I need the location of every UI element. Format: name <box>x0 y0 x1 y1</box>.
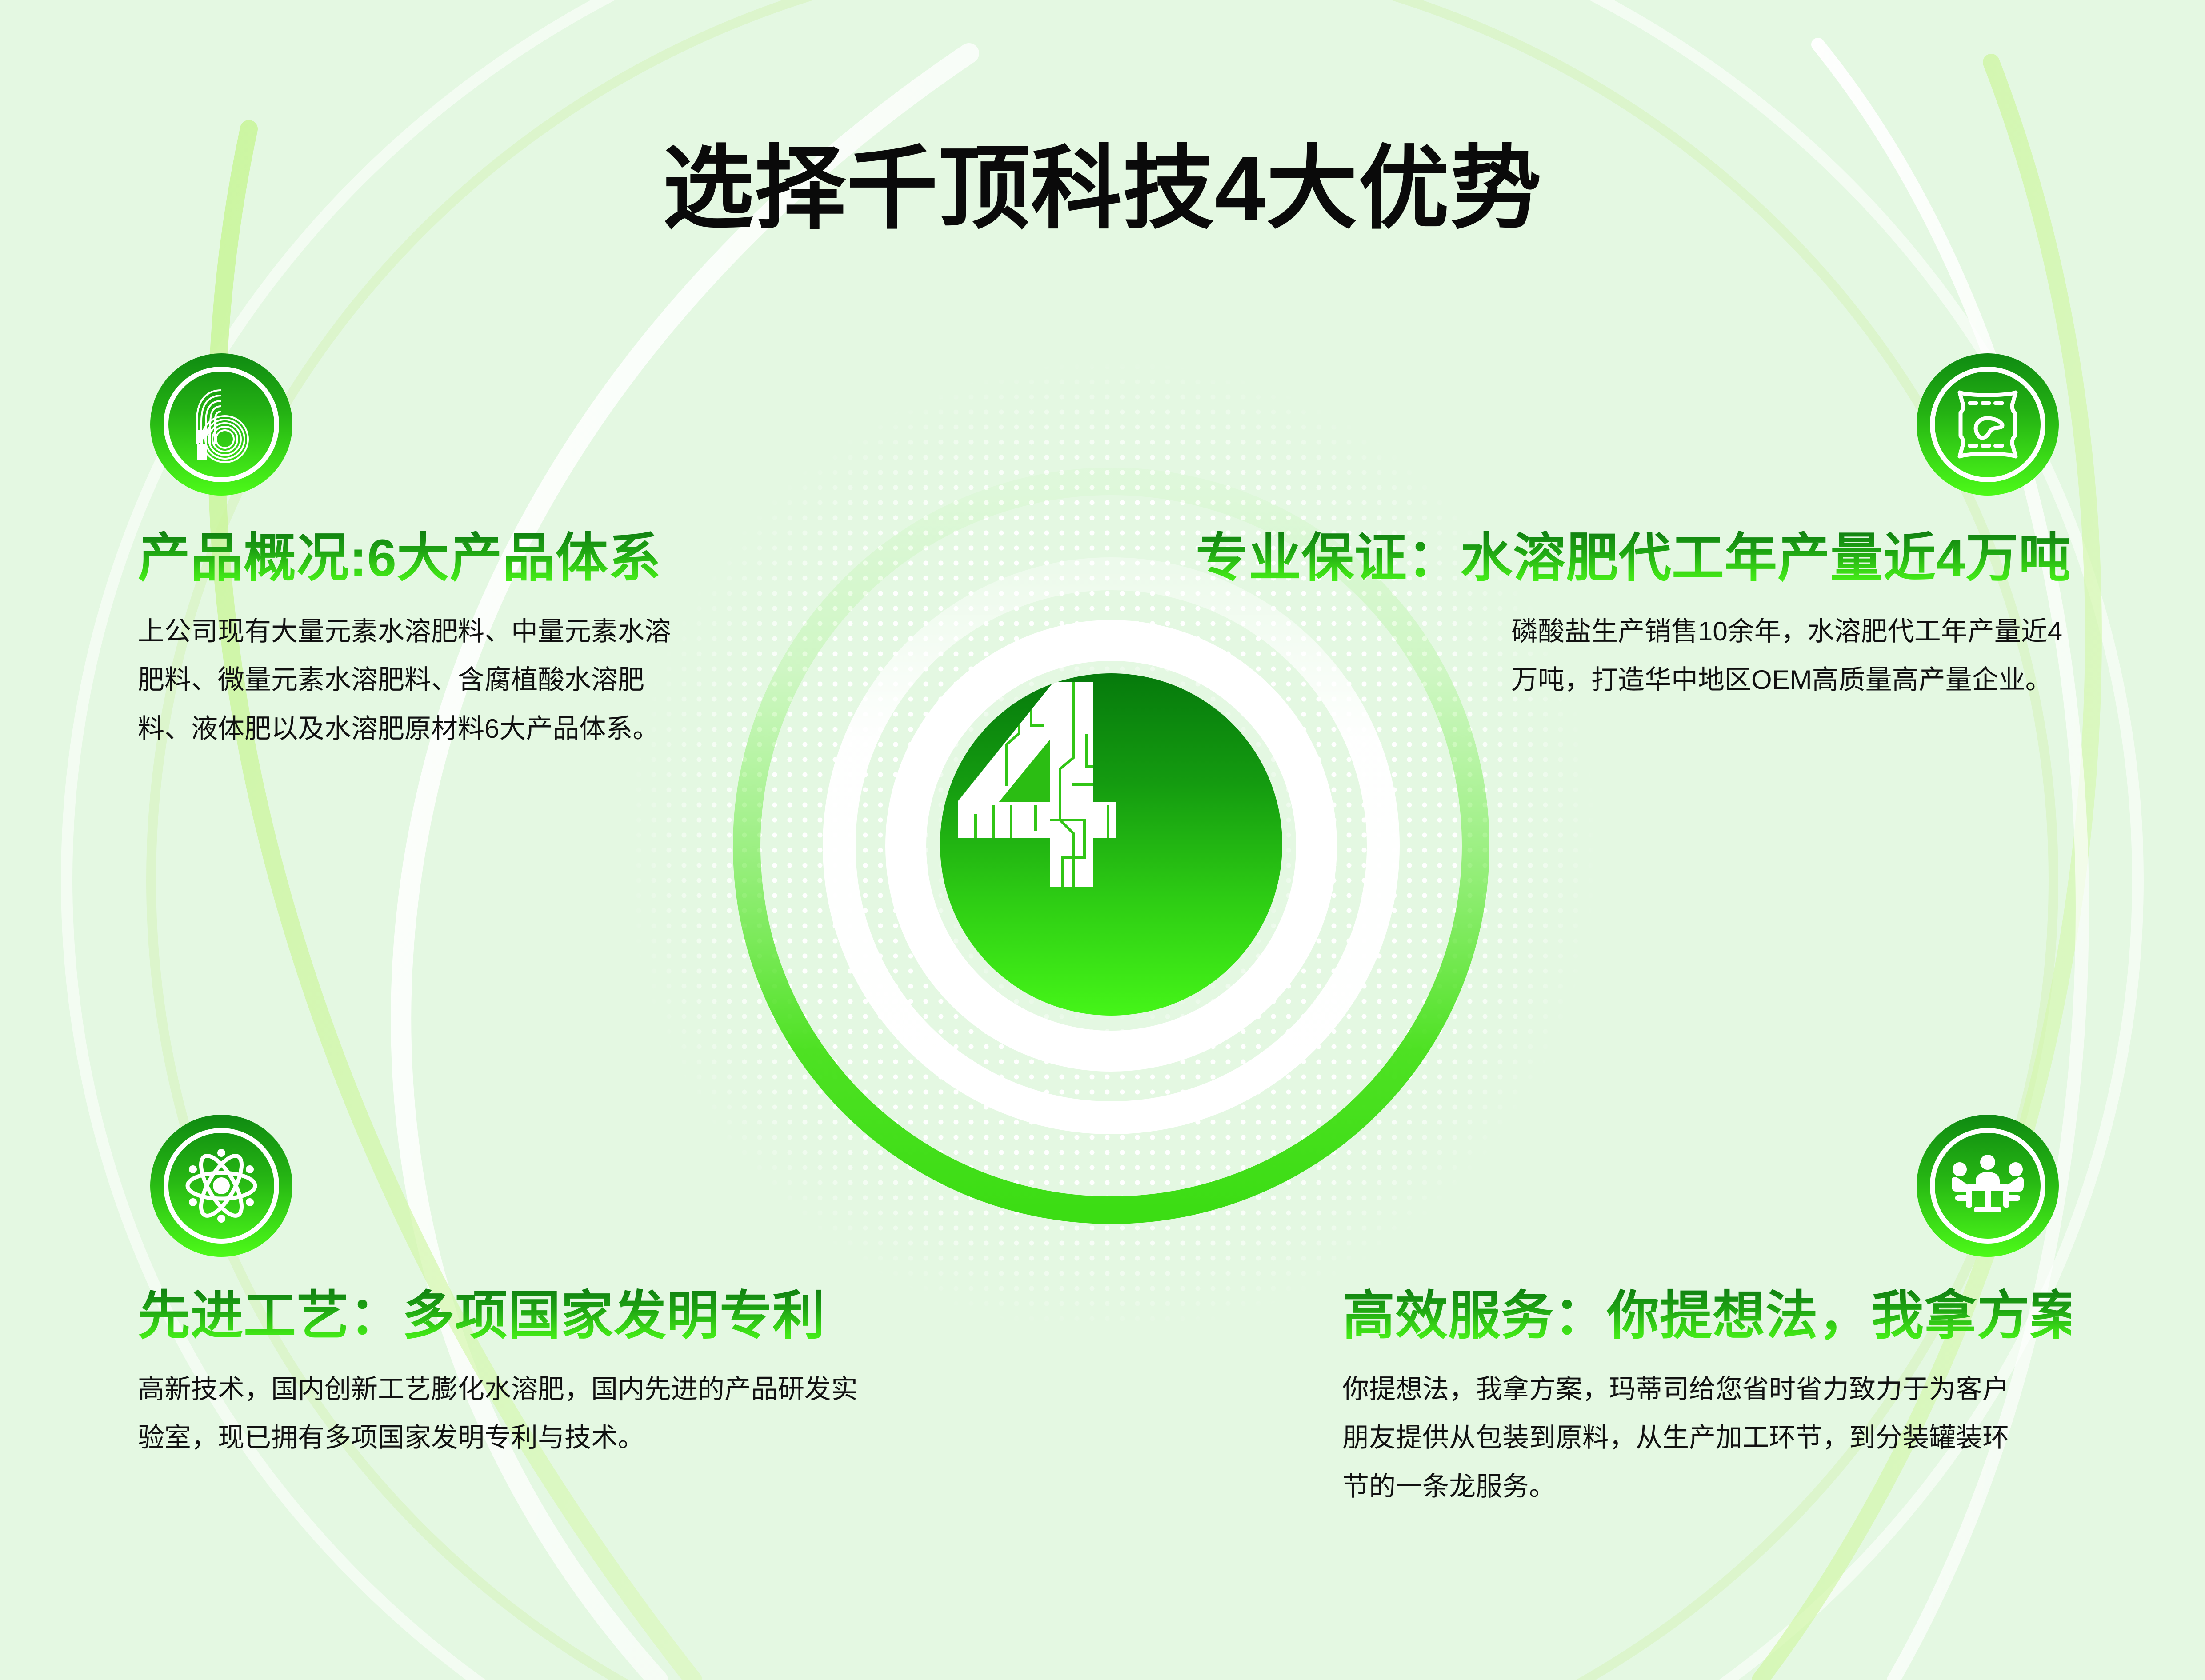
quadrant-heading: 产品概况:6大产品体系 <box>138 529 689 588</box>
badge-professional-guarantee[interactable] <box>1917 353 2059 496</box>
center-disc <box>940 673 1282 1016</box>
number-six-spiral-icon <box>150 353 292 496</box>
badge-advanced-technology[interactable] <box>150 1115 292 1257</box>
badge-product-overview[interactable] <box>150 353 292 496</box>
quadrant-advanced-technology: 先进工艺：多项国家发明专利 高新技术，国内创新工艺膨化水溶肥，国内先进的产品研发… <box>138 1287 893 1462</box>
quadrant-heading: 先进工艺：多项国家发明专利 <box>138 1287 893 1345</box>
quadrant-body: 你提想法，我拿方案，玛蒂司给您省时省力致力于为客户朋友提供从包装到原料，从生产加… <box>1342 1365 2022 1511</box>
fertilizer-bag-icon <box>1917 353 2059 496</box>
atom-icon <box>150 1115 292 1257</box>
badge-efficient-service[interactable] <box>1917 1115 2059 1257</box>
page-title: 选择千顶科技4大优势 <box>0 143 2205 234</box>
quadrant-body: 高新技术，国内创新工艺膨化水溶肥，国内先进的产品研发实验室，现已拥有多项国家发明… <box>138 1365 871 1462</box>
center-number-four-icon <box>940 673 1282 1016</box>
quadrant-efficient-service: 高效服务：你提想法，我拿方案 你提想法，我拿方案，玛蒂司给您省时省力致力于为客户… <box>1342 1287 2071 1511</box>
poster-canvas: 选择千顶科技4大优势 <box>0 0 2205 1680</box>
quadrant-professional-guarantee: 专业保证：水溶肥代工年产量近4万吨 磷酸盐生产销售10余年，水溶肥代工年产量近4… <box>1196 529 2069 704</box>
quadrant-heading: 高效服务：你提想法，我拿方案 <box>1342 1287 2071 1345</box>
meeting-team-icon <box>1917 1115 2059 1257</box>
quadrant-product-overview: 产品概况:6大产品体系 上公司现有大量元素水溶肥料、中量元素水溶肥料、微量元素水… <box>138 529 689 753</box>
quadrant-body: 上公司现有大量元素水溶肥料、中量元素水溶肥料、微量元素水溶肥料、含腐植酸水溶肥料… <box>138 607 684 753</box>
quadrant-body: 磷酸盐生产销售10余年，水溶肥代工年产量近4万吨，打造华中地区OEM高质量高产量… <box>1511 607 2069 704</box>
quadrant-heading: 专业保证：水溶肥代工年产量近4万吨 <box>1196 529 2069 588</box>
